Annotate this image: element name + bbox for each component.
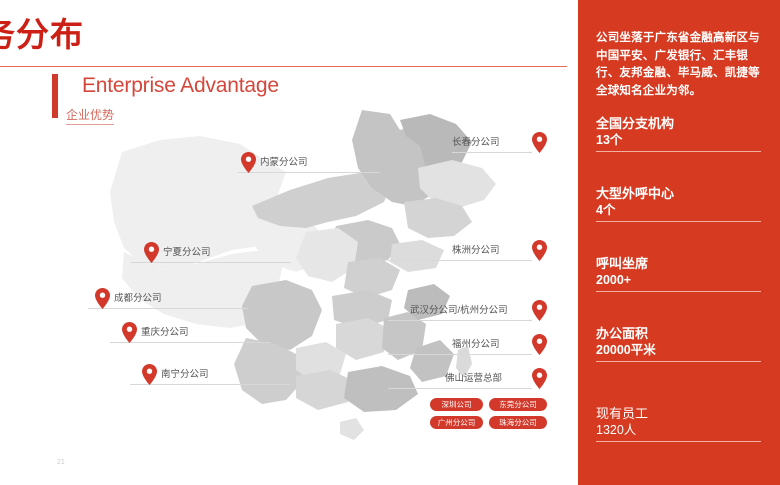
map-pin-icon[interactable] — [144, 242, 159, 263]
map-region-sichuan — [242, 280, 322, 350]
panel-stat: 全国分支机构13个 — [596, 115, 761, 152]
panel-stat-value: 13个 — [596, 132, 761, 152]
map-pin-icon[interactable] — [95, 288, 110, 309]
map-pin-label: 武汉分公司/杭州分公司 — [410, 305, 508, 317]
map-pin-icon[interactable] — [241, 152, 256, 173]
panel-intro-text: 公司坐落于广东省金融高新区与中国平安、广发银行、汇丰银行、友邦金融、毕马威、凯捷… — [596, 30, 764, 100]
china-map: 长春分公司内蒙分公司株洲分公司宁夏分公司成都分公司武汉分公司/杭州分公司重庆分公… — [100, 110, 570, 460]
map-city-badge[interactable]: 珠海分公司 — [489, 416, 547, 429]
pin-leader-line — [388, 260, 532, 261]
pin-leader-line — [88, 308, 248, 309]
section-accent-bar — [52, 74, 58, 118]
map-pin-label: 宁夏分公司 — [163, 247, 211, 259]
panel-stat: 呼叫坐席2000+ — [596, 255, 761, 292]
panel-stat-value: 2000+ — [596, 272, 761, 292]
panel-stat-label: 全国分支机构 — [596, 115, 761, 132]
map-city-badge[interactable]: 广州分公司 — [430, 416, 483, 429]
page-title: 务分布 — [0, 18, 84, 51]
map-pin-label: 成都分公司 — [114, 293, 162, 305]
panel-stat: 大型外呼中心4个 — [596, 185, 761, 222]
pin-leader-line — [452, 152, 532, 153]
panel-stat-label: 呼叫坐席 — [596, 255, 761, 272]
panel-stat-value: 1320人 — [596, 422, 761, 442]
panel-stat-label: 大型外呼中心 — [596, 185, 761, 202]
map-region-shandong — [390, 240, 444, 272]
map-pin-label: 内蒙分公司 — [260, 157, 308, 169]
map-region-guangxi — [296, 370, 352, 410]
map-pin-label: 株洲分公司 — [452, 245, 500, 257]
map-pin-label: 长春分公司 — [452, 137, 500, 149]
map-pin-label: 重庆分公司 — [141, 327, 189, 339]
panel-stat-value: 4个 — [596, 202, 761, 222]
map-region-yunnan — [234, 338, 304, 404]
map-pin-icon[interactable] — [142, 364, 157, 385]
pin-leader-line — [388, 320, 532, 321]
panel-stat: 现有员工1320人 — [596, 405, 761, 442]
panel-stat: 办公面积20000平米 — [596, 325, 761, 362]
map-pin-icon[interactable] — [532, 368, 547, 389]
page-number: 21 — [57, 459, 65, 466]
map-pin-label: 南宁分公司 — [161, 369, 209, 381]
map-city-badge[interactable]: 东莞分公司 — [489, 398, 547, 411]
map-region-guangdong — [344, 366, 418, 412]
map-region-hainan — [340, 418, 364, 440]
map-city-badge[interactable]: 深圳公司 — [430, 398, 483, 411]
map-pin-icon[interactable] — [532, 300, 547, 321]
pin-leader-line — [238, 172, 380, 173]
pin-leader-line — [388, 388, 532, 389]
stats-panel: 公司坐落于广东省金融高新区与中国平安、广发银行、汇丰银行、友邦金融、毕马威、凯捷… — [578, 0, 780, 485]
section-title-english: Enterprise Advantage — [82, 74, 279, 98]
panel-stat-label: 现有员工 — [596, 405, 761, 422]
map-pin-icon[interactable] — [532, 132, 547, 153]
pin-leader-line — [388, 354, 532, 355]
map-pin-icon[interactable] — [532, 240, 547, 261]
panel-stat-value: 20000平米 — [596, 342, 761, 362]
panel-stat-label: 办公面积 — [596, 325, 761, 342]
map-pin-label: 佛山运营总部 — [445, 373, 502, 385]
map-pin-icon[interactable] — [122, 322, 137, 343]
title-divider — [0, 66, 567, 67]
map-pin-icon[interactable] — [532, 334, 547, 355]
slide-canvas: 务分布 Enterprise Advantage 企业优势 21 — [0, 0, 780, 485]
map-pin-label: 福州分公司 — [452, 339, 500, 351]
